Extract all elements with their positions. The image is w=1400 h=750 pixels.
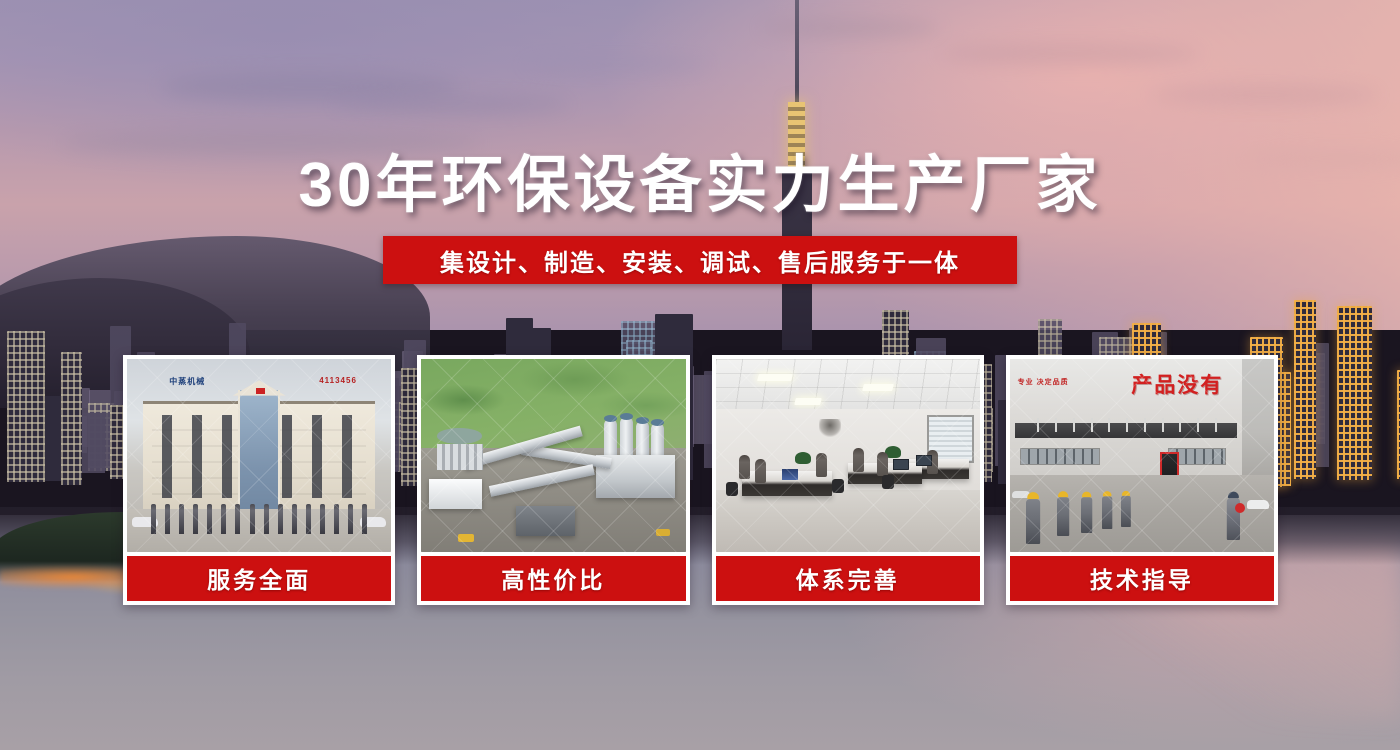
office-worker [755,459,766,483]
skyline-building [1337,306,1373,480]
office-worker [877,452,888,476]
factory-worker [1026,492,1040,544]
factory-worker [1121,491,1131,527]
office-floor [716,490,980,552]
cloud [940,44,1200,64]
factory-worker [1057,491,1069,536]
cloud [1150,84,1380,106]
page-title: 30年环保设备实力生产厂家 [0,134,1400,224]
factory-roof-band [1015,423,1237,438]
factory-worker [1102,491,1112,529]
hero-banner: 30年环保设备实力生产厂家 集设计、制造、安装、调试、售后服务于一体 中蒸机械 … [0,0,1400,750]
storage-silo [651,423,664,457]
national-flag [256,388,265,394]
skyline-building [82,413,106,473]
skyline-building [61,352,82,485]
factory-workers-photo: 产品没有 专业 决定品质 [1010,359,1274,552]
pond [437,428,482,443]
storage-silo [636,421,649,457]
office-worker [816,453,827,477]
feature-card[interactable]: 产品没有 专业 决定品质 [1006,355,1278,605]
factory-worker [1081,491,1092,532]
building-sign-text: 中蒸机械 [169,376,205,387]
factory-window [1020,448,1099,465]
silo-cap [620,413,633,420]
supervisor [1226,492,1239,540]
card-caption-text: 技术指导 [1090,561,1194,595]
ceiling-light [757,374,793,381]
cloud [330,96,570,113]
card-caption-bar: 高性价比 [421,556,685,601]
factory-wall-slogan: 产品没有 [1131,369,1223,399]
storage-silo [620,417,633,457]
staff-lineup [151,504,368,535]
loading-shed [516,506,574,537]
feature-card[interactable]: 高性价比 [417,355,689,605]
silo-cap [604,415,617,422]
office-chair [882,475,894,489]
cloud [520,58,710,72]
subtitle-banner: 集设计、制造、安装、调试、售后服务于一体 [383,236,1017,284]
skyline-building [1294,300,1317,479]
company-headquarters-photo: 中蒸机械 4113456 [127,359,391,552]
office-ceiling [716,359,980,411]
office-worker [853,448,864,472]
card-caption-bar: 体系完善 [716,556,980,601]
aerial-plant-photo [421,359,685,552]
card-caption-text: 高性价比 [501,561,605,595]
parked-car [1247,500,1269,509]
subtitle-text: 集设计、制造、安装、调试、售后服务于一体 [440,243,960,278]
card-caption-bar: 技术指导 [1010,556,1274,601]
storage-silo [604,419,617,457]
ceiling-light [863,384,895,391]
office-worker [739,455,750,479]
card-caption-text: 体系完善 [796,561,900,595]
office-chair [726,482,738,496]
warehouse-building [429,479,482,510]
building-phone-text: 4113456 [319,376,357,385]
cloud [760,20,940,36]
ceiling-tile-grid [716,359,980,411]
silo-cap [636,417,649,424]
laptop [782,469,798,480]
potted-plant [795,452,811,464]
office-interior-photo [716,359,980,552]
office-chair [832,479,844,493]
feature-card-list: 中蒸机械 4113456 服务全面 [123,355,1278,605]
process-stacks [437,444,483,470]
wall-emblem [819,419,841,437]
ceiling-light [794,398,821,405]
feature-card[interactable]: 中蒸机械 4113456 服务全面 [123,355,395,605]
card-caption-bar: 服务全面 [127,556,391,601]
desktop-monitor [916,455,932,466]
factory-wall-small-slogan: 专业 决定品质 [1018,378,1069,389]
feature-card[interactable]: 体系完善 [712,355,984,605]
skyline-building [7,331,45,482]
building-glass-atrium [238,390,280,521]
excavator [458,534,474,542]
silo-cap [651,419,664,426]
desktop-monitor [893,459,909,470]
tower-spire [795,0,799,110]
excavator [656,529,670,536]
card-caption-text: 服务全面 [207,561,311,595]
